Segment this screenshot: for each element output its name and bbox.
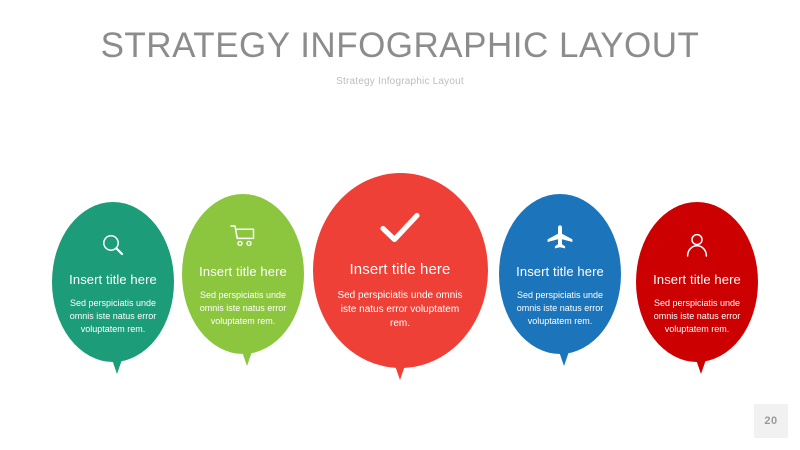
airplane-icon <box>546 224 574 255</box>
infographic-bubble[interactable]: Insert title hereSed perspiciatis unde o… <box>636 202 758 362</box>
slide-canvas: STRATEGY INFOGRAPHIC LAYOUT Strategy Inf… <box>0 0 800 450</box>
page-title: STRATEGY INFOGRAPHIC LAYOUT <box>0 24 800 68</box>
slide-header: STRATEGY INFOGRAPHIC LAYOUT Strategy Inf… <box>0 24 800 87</box>
bubble-title: Insert title here <box>69 272 157 288</box>
shopping-cart-icon <box>229 224 257 255</box>
infographic-bubble[interactable]: Insert title hereSed perspiciatis unde o… <box>52 202 174 362</box>
bubble-content: Insert title hereSed perspiciatis unde o… <box>636 202 758 362</box>
bubble-content: Insert title hereSed perspiciatis unde o… <box>313 173 488 368</box>
bubble-title: Insert title here <box>516 264 604 280</box>
bubble-description: Sed perspiciatis unde omnis iste natus e… <box>333 289 468 331</box>
bubble-description: Sed perspiciatis unde omnis iste natus e… <box>641 297 753 336</box>
bubble-description: Sed perspiciatis unde omnis iste natus e… <box>57 297 169 336</box>
person-icon <box>685 232 709 263</box>
infographic-bubble[interactable]: Insert title hereSed perspiciatis unde o… <box>182 194 304 354</box>
bubble-title: Insert title here <box>653 272 741 288</box>
bubble-title: Insert title here <box>350 262 451 278</box>
page-number-badge: 20 <box>754 404 788 438</box>
infographic-bubble[interactable]: Insert title hereSed perspiciatis unde o… <box>313 173 488 368</box>
infographic-bubble[interactable]: Insert title hereSed perspiciatis unde o… <box>499 194 621 354</box>
infographic-bubble-row: Insert title hereSed perspiciatis unde o… <box>0 173 800 393</box>
bubble-description: Sed perspiciatis unde omnis iste natus e… <box>187 289 299 328</box>
checkmark-icon <box>379 211 421 250</box>
bubble-content: Insert title hereSed perspiciatis unde o… <box>182 194 304 354</box>
bubble-title: Insert title here <box>199 264 287 280</box>
page-subtitle: Strategy Infographic Layout <box>0 76 800 87</box>
bubble-description: Sed perspiciatis unde omnis iste natus e… <box>504 289 616 328</box>
bubble-content: Insert title hereSed perspiciatis unde o… <box>52 202 174 362</box>
bubble-content: Insert title hereSed perspiciatis unde o… <box>499 194 621 354</box>
magnifier-icon <box>100 232 126 263</box>
